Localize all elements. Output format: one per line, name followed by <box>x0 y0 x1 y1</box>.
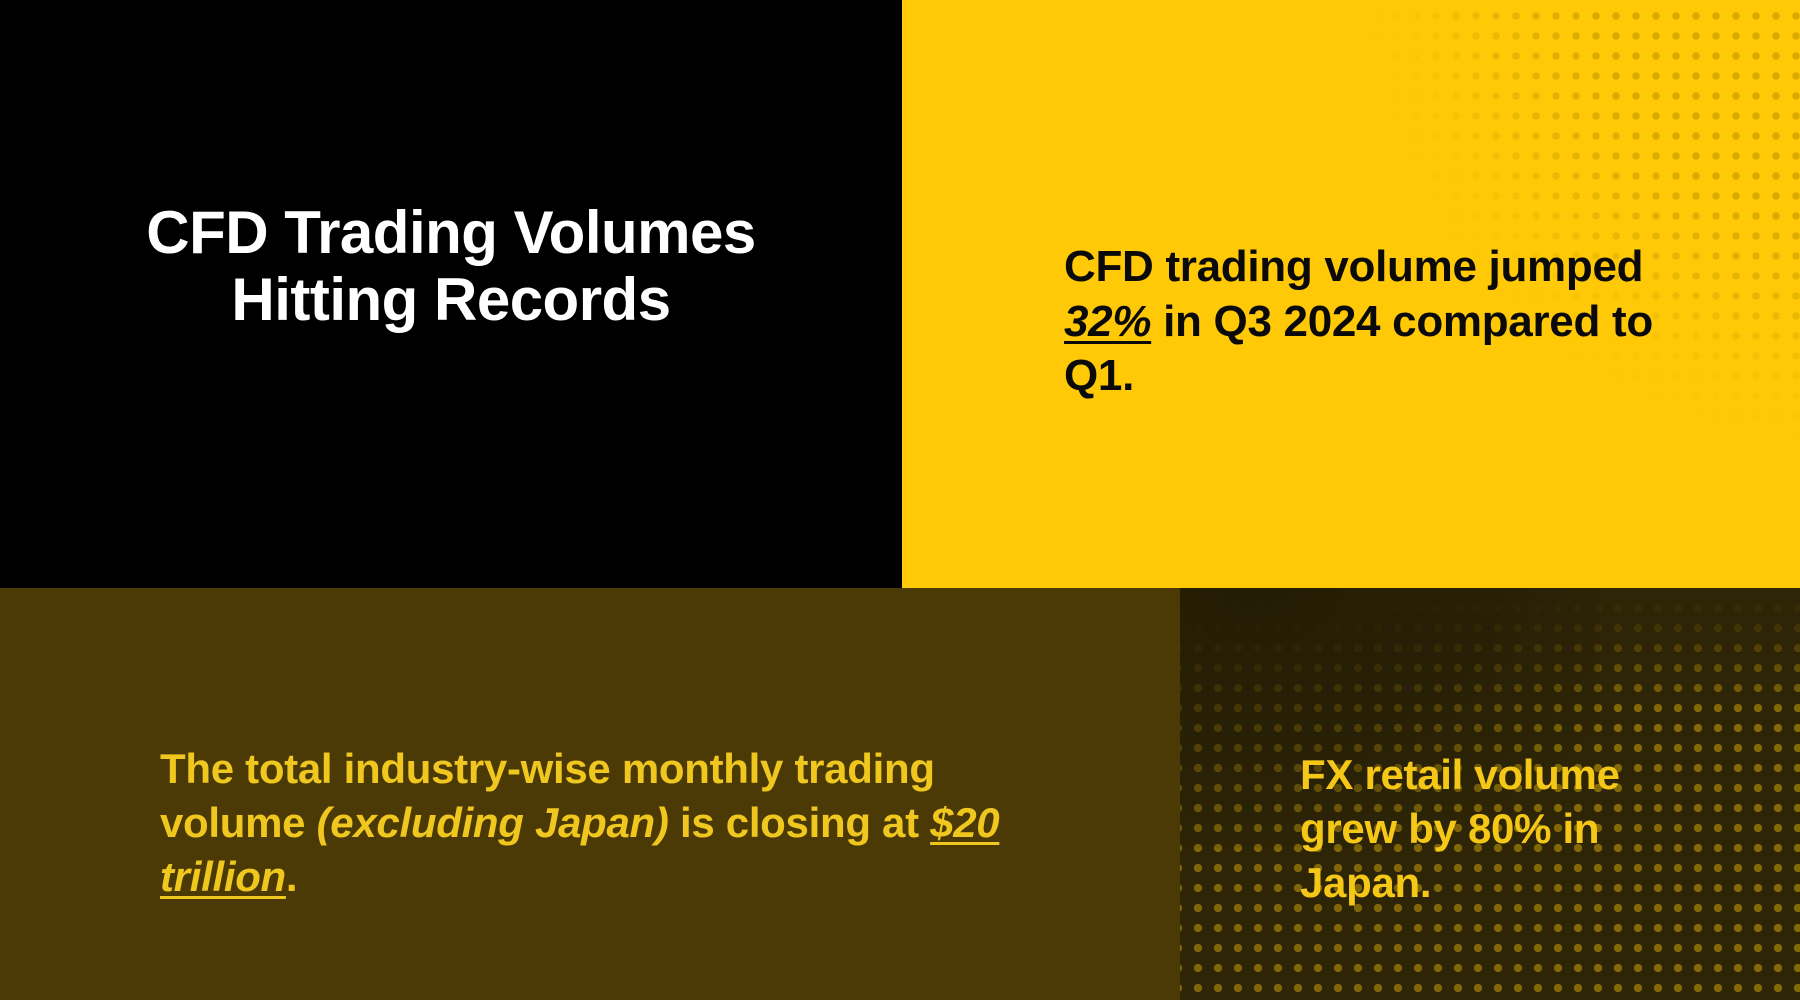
stat-cfd-highlight: 32% <box>1064 297 1151 346</box>
stat-cfd-text: CFD trading volume jumped 32% in Q3 2024… <box>1064 240 1684 404</box>
stat-industry-aside: (excluding Japan) <box>317 799 669 846</box>
stat-panel-cfd-volume: CFD trading volume jumped 32% in Q3 2024… <box>902 0 1800 588</box>
stat-industry-text-middle: is closing at <box>669 799 931 846</box>
page-title: CFD Trading Volumes Hitting Records <box>131 200 771 333</box>
stat-fx-text: FX retail volume grew by 80% in Japan. <box>1300 748 1720 909</box>
stat-cfd-text-before: CFD trading volume jumped <box>1064 242 1643 291</box>
title-panel: CFD Trading Volumes Hitting Records <box>0 0 902 588</box>
stat-industry-text: The total industry-wise monthly trading … <box>160 742 1040 903</box>
stat-industry-text-after: . <box>286 853 297 900</box>
stat-cfd-text-after: in Q3 2024 compared to Q1. <box>1064 297 1653 401</box>
infographic-canvas: CFD Trading Volumes Hitting Records CFD … <box>0 0 1800 1000</box>
